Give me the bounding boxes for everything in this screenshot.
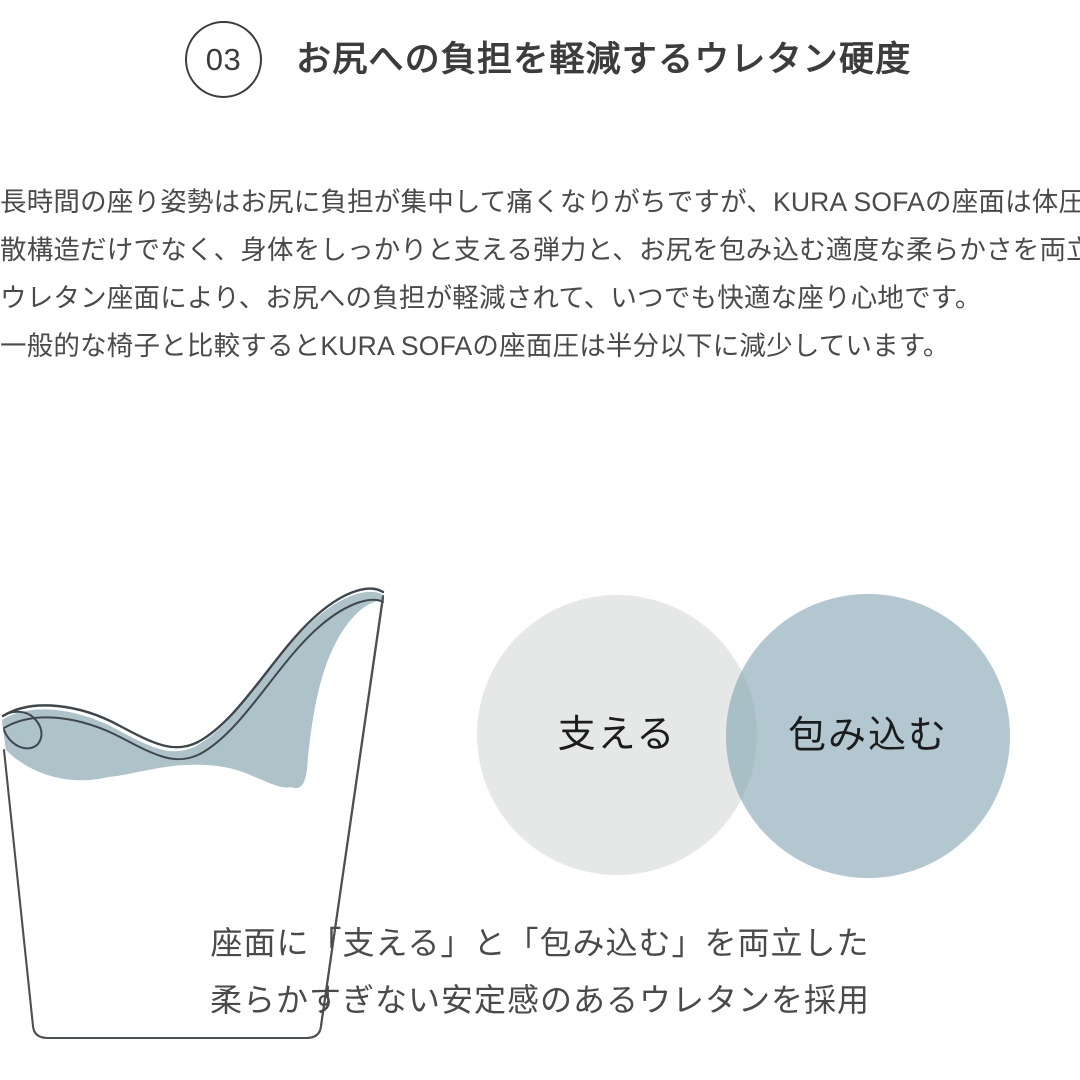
venn-label-right: 包み込む <box>788 715 948 757</box>
venn-diagram: 支える 包み込む <box>460 570 1080 910</box>
body-copy-line: 長時間の座り姿勢はお尻に負担が集中して痛くなりがちですが、KURA SOFAの座… <box>0 178 1070 226</box>
body-copy-line: 散構造だけでなく、身体をしっかりと支える弾力と、お尻を包み込む適度な柔らかさを両… <box>0 226 1070 274</box>
figure-caption-line: 座面に「支える」と「包み込む」を両立した <box>0 915 1080 972</box>
step-number-badge: 03 <box>185 21 262 98</box>
figure-caption: 座面に「支える」と「包み込む」を両立した 柔らかすぎない安定感のあるウレタンを採… <box>0 915 1080 1029</box>
body-copy: 長時間の座り姿勢はお尻に負担が集中して痛くなりがちですが、KURA SOFAの座… <box>0 178 1070 370</box>
body-copy-line: 一般的な椅子と比較するとKURA SOFAの座面圧は半分以下に減少しています。 <box>0 322 1070 370</box>
figure-caption-line: 柔らかすぎない安定感のあるウレタンを採用 <box>0 972 1080 1029</box>
step-number-label: 03 <box>206 44 241 75</box>
body-copy-line: ウレタン座面により、お尻への負担が軽減されて、いつでも快適な座り心地です。 <box>0 274 1070 322</box>
section-header: 03 お尻への負担を軽減するウレタン硬度 <box>0 0 1080 118</box>
page-title: お尻への負担を軽減するウレタン硬度 <box>296 42 911 77</box>
venn-label-left: 支える <box>558 714 677 756</box>
